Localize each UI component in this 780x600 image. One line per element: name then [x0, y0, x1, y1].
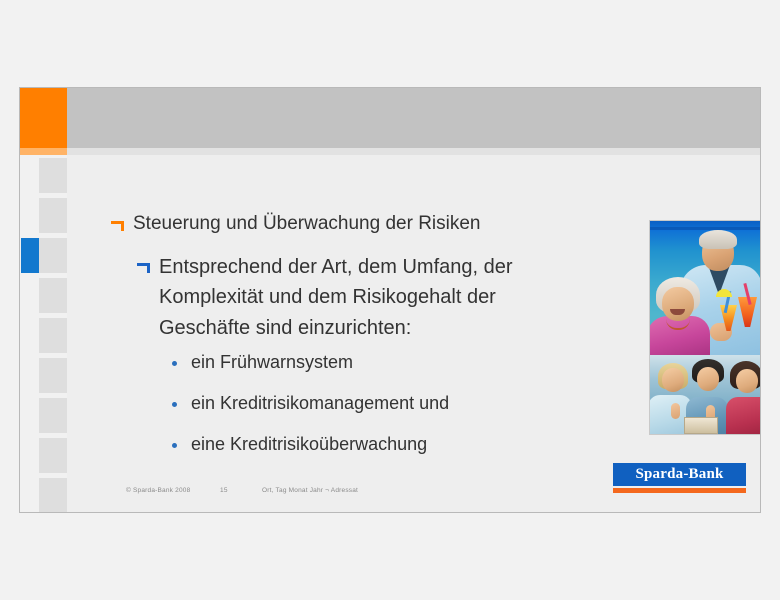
header-gray-underline: [67, 148, 760, 155]
list-item: ein Kreditrisikomanagement und: [172, 392, 572, 433]
bullet-dot-icon: [172, 361, 177, 366]
sidebar-item-7[interactable]: [39, 398, 67, 433]
corner-bracket-icon-orange: [111, 221, 124, 231]
slide-subheading: Entsprechend der Art, dem Umfang, der Ko…: [159, 252, 557, 343]
sidebar-item-8[interactable]: [39, 438, 67, 473]
logo-text: Sparda-Bank: [635, 466, 723, 483]
sidebar-item-1[interactable]: [39, 158, 67, 193]
presentation-slide: Steuerung und Überwachung der Risiken En…: [19, 87, 761, 513]
sidebar-item-3-active[interactable]: [21, 238, 67, 273]
sidebar-item-6[interactable]: [39, 358, 67, 393]
footer-copyright: © Sparda-Bank 2008: [126, 487, 218, 494]
photo-senior-couple: [650, 221, 761, 355]
sidebar-item-5[interactable]: [39, 318, 67, 353]
bullet-text: ein Kreditrisikomanagement und: [191, 392, 449, 415]
slide-header-band: [20, 88, 760, 148]
table-prop: [684, 417, 718, 434]
photo-three-young-people: [650, 355, 761, 434]
sidebar-active-marker: [21, 238, 39, 273]
slide-footer: © Sparda-Bank 2008 15 Ort, Tag Monat Jah…: [126, 487, 358, 494]
bullet-dot-icon: [172, 402, 177, 407]
bullet-text: eine Kreditrisikoüberwachung: [191, 433, 427, 456]
woman-face: [662, 287, 694, 321]
sidebar-item-9[interactable]: [39, 478, 67, 513]
person-2-face: [697, 367, 719, 391]
heading-row: Steuerung und Überwachung der Risiken: [111, 212, 481, 237]
bullet-text: ein Frühwarnsystem: [191, 351, 353, 374]
logo-box: Sparda-Bank: [613, 463, 746, 486]
logo-orange-bar: [613, 488, 746, 493]
list-item: eine Kreditrisikoüberwachung: [172, 433, 572, 474]
person-1-face: [662, 368, 684, 392]
list-item: ein Frühwarnsystem: [172, 351, 572, 392]
sidebar-item-2[interactable]: [39, 198, 67, 233]
slide-content: Steuerung und Überwachung der Risiken En…: [67, 155, 760, 512]
sparda-bank-logo: Sparda-Bank: [613, 463, 746, 493]
corner-bracket-icon-blue: [137, 263, 150, 273]
header-orange-underline: [20, 148, 67, 155]
footer-meta: Ort, Tag Monat Jahr ¬ Adressat: [262, 487, 358, 494]
sidebar-item-4[interactable]: [39, 278, 67, 313]
bullet-list: ein Frühwarnsystem ein Kreditrisikomanag…: [172, 351, 572, 474]
man-hair: [699, 230, 737, 249]
horizon-line: [650, 227, 761, 230]
person-1-thumb-up: [671, 403, 680, 419]
footer-page-number: 15: [220, 487, 260, 494]
person-3-face: [736, 369, 758, 393]
sidebar-nav-strip: [20, 155, 67, 512]
photo-stack: [649, 220, 761, 435]
header-orange-block: [20, 88, 67, 148]
slide-heading: Steuerung und Überwachung der Risiken: [133, 212, 481, 237]
bullet-dot-icon: [172, 443, 177, 448]
person-3-jacket: [726, 397, 761, 434]
sidebar-active-body: [39, 238, 67, 273]
subheading-row: Entsprechend der Art, dem Umfang, der Ko…: [137, 252, 557, 343]
